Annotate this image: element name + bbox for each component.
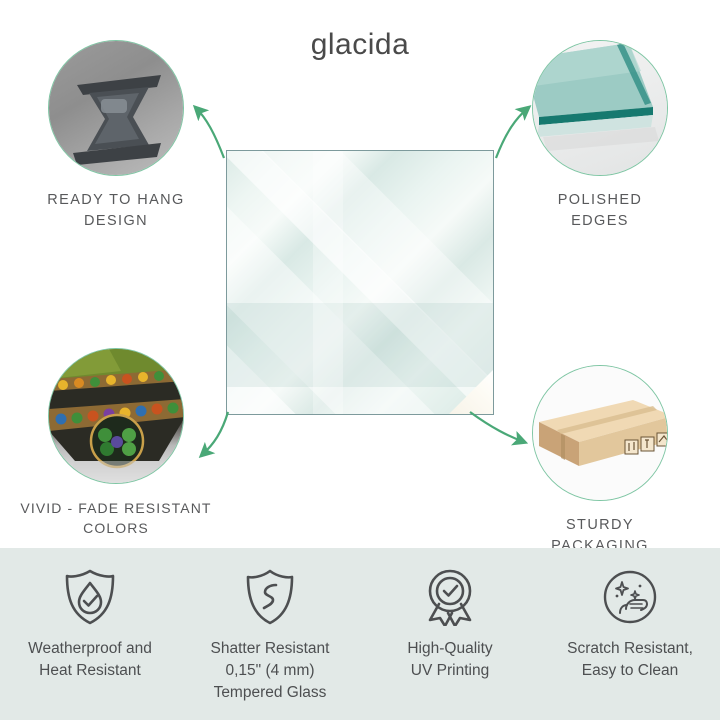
spec-item-scratch-resistant: Scratch Resistant, Easy to Clean xyxy=(540,566,720,682)
mounting-bracket-icon xyxy=(49,41,184,176)
feature-image-vivid-colors xyxy=(48,348,184,484)
feature-label-polished-edges: POLISHED EDGES xyxy=(500,190,700,232)
award-badge-check-icon xyxy=(360,566,540,628)
mosaic-artwork-icon xyxy=(49,349,184,484)
feature-polished-edges: POLISHED EDGES xyxy=(500,40,700,232)
feature-vivid-colors: VIVID - FADE RESISTANT COLORS xyxy=(16,348,216,539)
glass-horizon-band xyxy=(227,303,493,387)
sparkle-clean-hand-icon xyxy=(540,566,720,628)
feature-label-ready-to-hang: READY TO HANG DESIGN xyxy=(16,190,216,232)
spec-item-weatherproof: Weatherproof and Heat Resistant xyxy=(0,566,180,682)
spec-label-shatter-resistant: Shatter Resistant 0,15" (4 mm) Tempered … xyxy=(180,638,360,704)
feature-image-polished-edges xyxy=(532,40,668,176)
feature-image-sturdy-packaging xyxy=(532,365,668,501)
shield-lightning-icon xyxy=(180,566,360,628)
feature-label-vivid-colors: VIVID - FADE RESISTANT COLORS xyxy=(16,498,216,539)
spec-label-uv-printing: High-Quality UV Printing xyxy=(360,638,540,682)
glass-vertical-reflection xyxy=(313,151,343,414)
product-glass-panel xyxy=(226,150,494,415)
glass-edge-icon xyxy=(533,41,668,176)
spec-bar: Weatherproof and Heat Resistant Shatter … xyxy=(0,548,720,720)
cardboard-box-icon xyxy=(533,366,668,501)
spec-label-weatherproof: Weatherproof and Heat Resistant xyxy=(0,638,180,682)
feature-image-ready-to-hang xyxy=(48,40,184,176)
spec-label-scratch-resistant: Scratch Resistant, Easy to Clean xyxy=(540,638,720,682)
infographic-root: glacida xyxy=(0,0,720,720)
water-drop-shield-icon xyxy=(0,566,180,628)
feature-sturdy-packaging: STURDY PACKAGING xyxy=(500,365,700,557)
feature-ready-to-hang: READY TO HANG DESIGN xyxy=(16,40,216,232)
spec-item-uv-printing: High-Quality UV Printing xyxy=(360,566,540,682)
spec-item-shatter-resistant: Shatter Resistant 0,15" (4 mm) Tempered … xyxy=(180,566,360,704)
